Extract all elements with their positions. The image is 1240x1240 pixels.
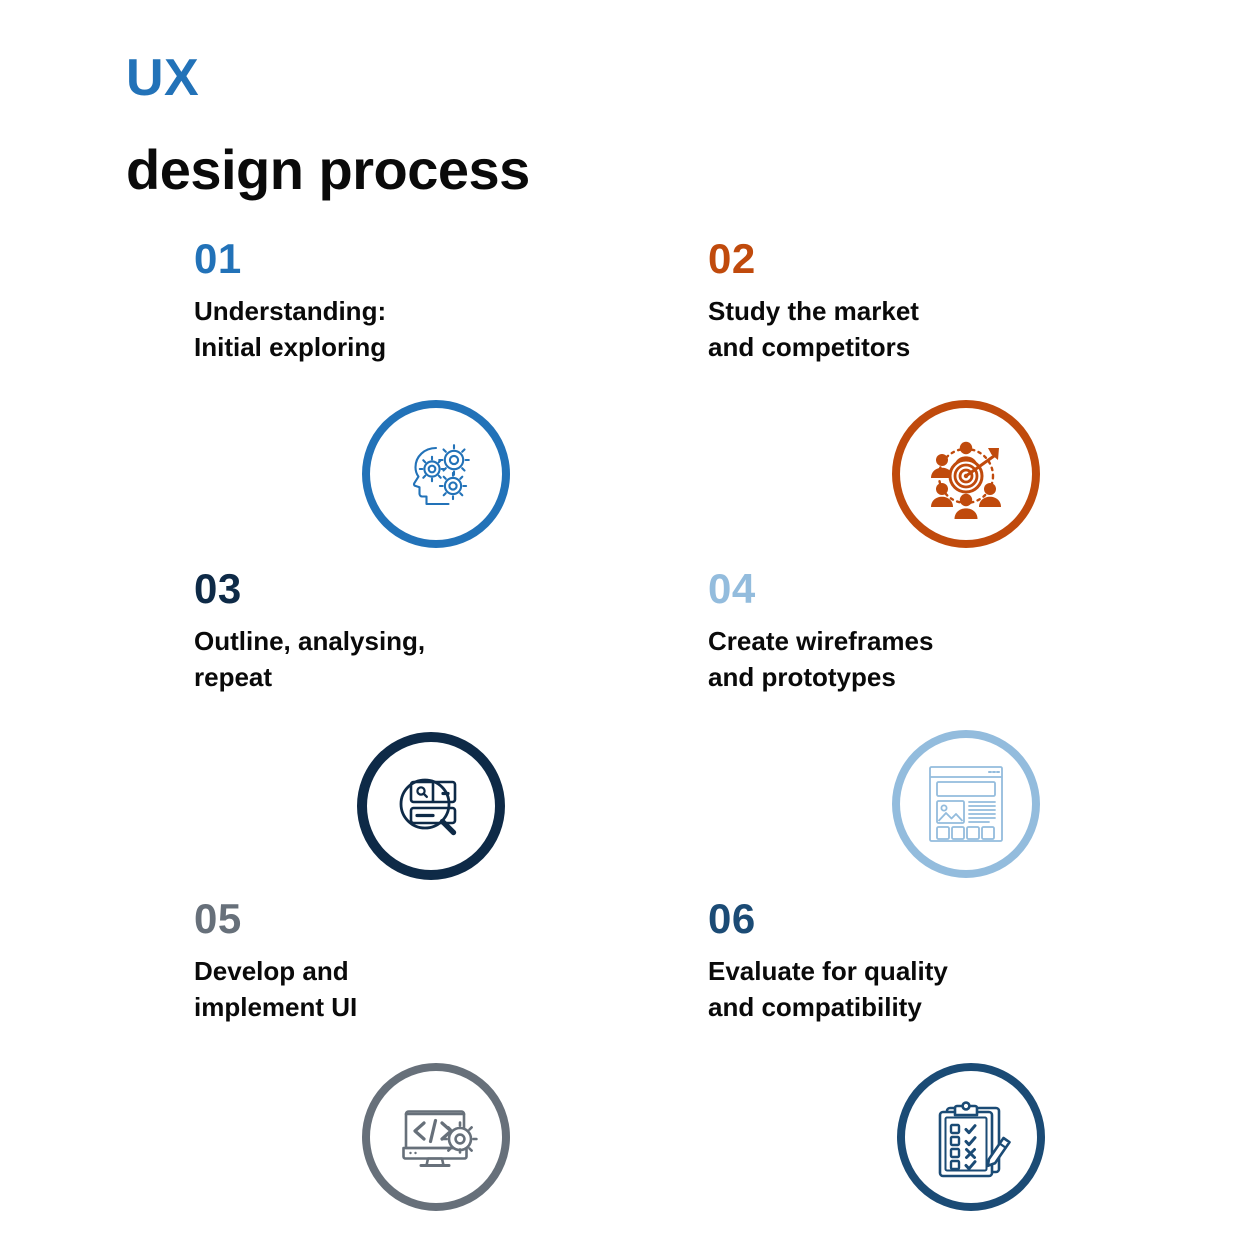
steps-row: 05 Develop and implement UI [0, 888, 1240, 1218]
steps-grid: 01 Understanding: Initial exploring [0, 228, 1240, 1218]
clipboard-checklist-pencil-icon [927, 1093, 1015, 1181]
head-gears-icon [390, 428, 482, 520]
step-text-line2: and prototypes [708, 662, 896, 692]
step-card-03[interactable]: 03 Outline, analysing, repeat [0, 558, 620, 888]
page-title: design process [126, 142, 530, 198]
wireframe-layout-icon [923, 761, 1009, 847]
header: UX design process [126, 52, 530, 198]
step-card-04[interactable]: 04 Create wireframes and prototypes [620, 558, 1240, 888]
step-number-03: 03 [194, 558, 620, 610]
step-text-line1: Study the market [708, 296, 919, 326]
step-number-02: 02 [708, 228, 1240, 280]
step-icon-medallion-04[interactable] [892, 730, 1040, 878]
step-text-line1: Outline, analysing, [194, 626, 425, 656]
step-card-01[interactable]: 01 Understanding: Initial exploring [0, 228, 620, 558]
step-number-01: 01 [194, 228, 620, 280]
step-text-line1: Create wireframes [708, 626, 933, 656]
step-icon-medallion-05[interactable] [362, 1063, 510, 1211]
step-icon-medallion-06[interactable] [897, 1063, 1045, 1211]
step-text-line1: Evaluate for quality [708, 956, 948, 986]
step-text-line2: repeat [194, 662, 272, 692]
step-card-05[interactable]: 05 Develop and implement UI [0, 888, 620, 1218]
step-text-line2: Initial exploring [194, 332, 386, 362]
step-text-line2: implement UI [194, 992, 357, 1022]
step-text-04: Create wireframes and prototypes [708, 624, 1038, 695]
step-text-02: Study the market and competitors [708, 294, 1038, 365]
target-audience-icon [918, 426, 1014, 522]
step-icon-medallion-02[interactable] [892, 400, 1040, 548]
step-text-06: Evaluate for quality and compatibility [708, 954, 1038, 1025]
magnifier-content-icon [385, 760, 477, 852]
step-icon-medallion-01[interactable] [362, 400, 510, 548]
step-card-02[interactable]: 02 Study the market and competitors [620, 228, 1240, 558]
step-text-03: Outline, analysing, repeat [194, 624, 524, 695]
step-number-05: 05 [194, 888, 620, 940]
step-text-01: Understanding: Initial exploring [194, 294, 524, 365]
step-number-04: 04 [708, 558, 1240, 610]
step-icon-medallion-03[interactable] [357, 732, 505, 880]
step-text-line2: and compatibility [708, 992, 922, 1022]
step-number-06: 06 [708, 888, 1240, 940]
monitor-code-gear-icon [390, 1091, 482, 1183]
step-text-05: Develop and implement UI [194, 954, 524, 1025]
step-text-line2: and competitors [708, 332, 910, 362]
infographic-page: UX design process 01 Understanding: Init… [0, 0, 1240, 1240]
eyebrow-title: UX [126, 52, 530, 104]
steps-row: 03 Outline, analysing, repeat [0, 558, 1240, 888]
step-text-line1: Develop and [194, 956, 349, 986]
step-text-line1: Understanding: [194, 296, 386, 326]
step-card-06[interactable]: 06 Evaluate for quality and compatibilit… [620, 888, 1240, 1218]
steps-row: 01 Understanding: Initial exploring [0, 228, 1240, 558]
